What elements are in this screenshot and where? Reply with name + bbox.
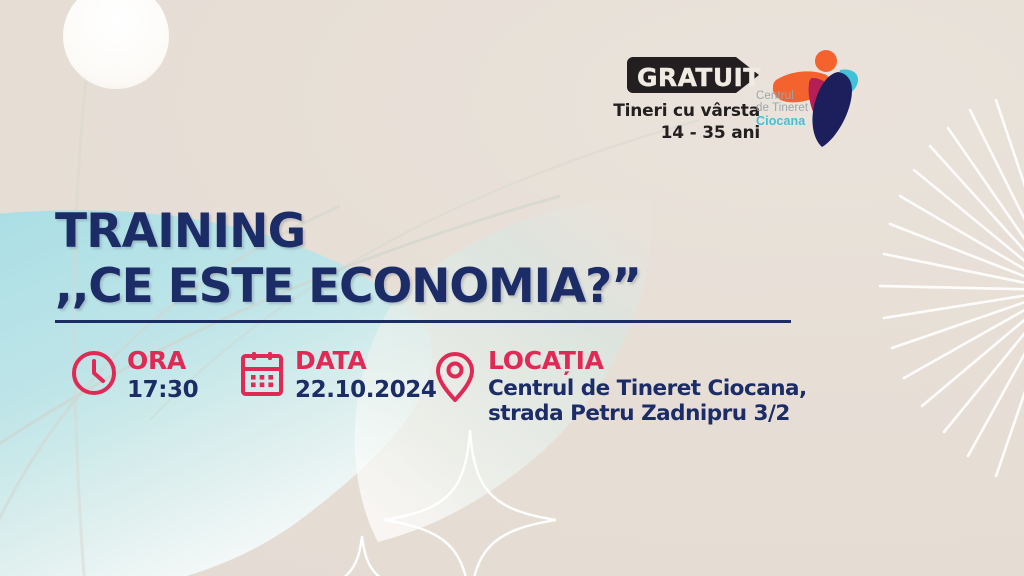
title-line-1: TRAINING <box>55 204 641 259</box>
poster-canvas: GRATUIT Tineri cu vârsta 14 - 35 ani <box>0 0 1024 576</box>
time-value: 17:30 <box>127 376 198 404</box>
logo-head-dot <box>815 50 837 72</box>
starburst-right <box>880 100 1024 476</box>
date-value: 22.10.2024 <box>295 376 437 404</box>
page-title: TRAINING ,,CE ESTE ECONOMIA?” <box>55 204 641 315</box>
title-divider <box>55 320 791 323</box>
detail-location: LOCAȚIA Centrul de Tineret Ciocana, stra… <box>431 348 807 427</box>
map-pin-icon <box>431 349 479 405</box>
location-label: LOCAȚIA <box>488 348 807 374</box>
age-text-line-1: Tineri cu vârsta <box>613 101 760 121</box>
location-value: Centrul de Tineret Ciocana, strada Petru… <box>488 376 807 428</box>
sparkle-small <box>304 536 420 576</box>
detail-date: DATA 22.10.2024 <box>238 348 431 404</box>
gratuit-badge: GRATUIT Tineri cu vârsta 14 - 35 ani <box>612 56 760 143</box>
clock-icon <box>70 349 118 397</box>
logo-line-1: Centrul <box>756 90 808 102</box>
age-text-line-2: 14 - 35 ani <box>612 123 760 143</box>
logo-line-2: de Tineret <box>756 102 808 114</box>
age-line-one: Tineri cu vârsta <box>612 101 760 121</box>
event-details-row: ORA 17:30 DATA <box>70 348 807 427</box>
logo[interactable]: Centrul de Tineret Ciocana <box>752 48 862 152</box>
logo-wordmark: Centrul de Tineret Ciocana <box>756 90 808 128</box>
date-label: DATA <box>295 348 437 374</box>
logo-line-3: Ciocana <box>756 115 808 129</box>
title-line-2: ,,CE ESTE ECONOMIA?” <box>55 259 641 314</box>
gratuit-label: GRATUIT <box>637 63 761 92</box>
detail-time: ORA 17:30 <box>70 348 238 404</box>
time-label: ORA <box>127 348 198 374</box>
white-circle-head <box>63 0 169 89</box>
calendar-icon <box>238 349 286 397</box>
gratuit-banner: GRATUIT <box>626 56 760 94</box>
